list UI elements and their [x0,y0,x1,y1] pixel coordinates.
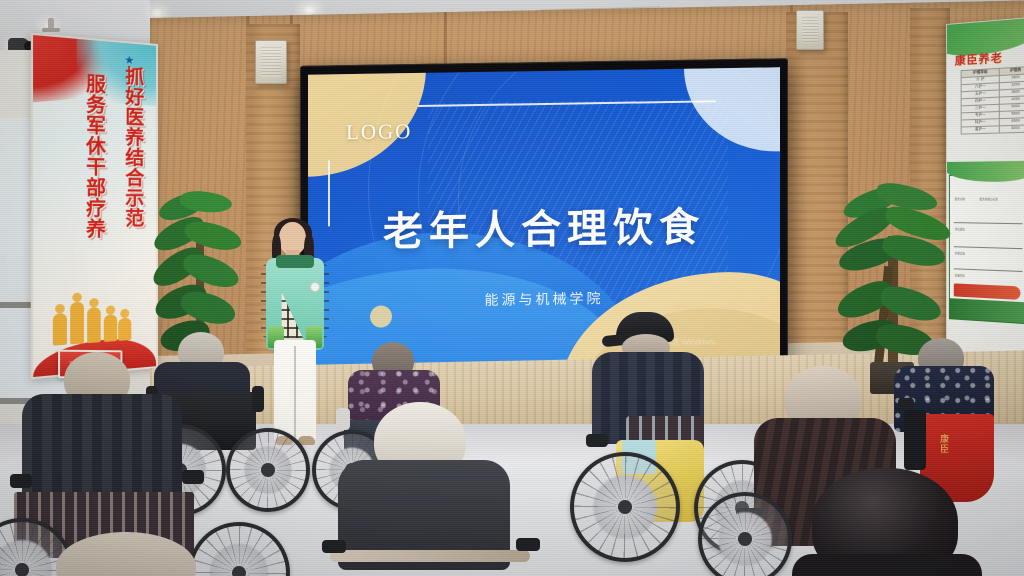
presenter-vest-badge [310,282,320,292]
wheelchair-push-handle [516,538,540,551]
torso [792,554,982,576]
downlight-3 [302,6,317,14]
table-row: 重护一8000 [961,124,1024,133]
wall-speaker-right [796,10,824,50]
slide-logo-text: LOGO [346,119,412,145]
wheelchair-armrest [330,550,530,562]
banner-text-right-column: 抓好医养结合示范 [108,64,142,228]
poster-lower-red-ribbon [954,283,1021,300]
presentation-room-photo: ★ 抓好医养结合示范 服务军休干部疗养 军休干部疗养中心 康臣养老 护理等级 护… [0,0,1024,576]
wheelchair-push-handle [182,470,204,484]
wheelchair-wheel [698,492,792,576]
banner-figures-illustration [44,283,140,353]
slide-title: 老年人合理饮食 [308,193,780,258]
banner-text-left-column: 服务军休干部疗养 [68,72,104,240]
audience-member-center-front [330,402,560,576]
wheelchair-wheel [570,452,680,562]
wheelchair-push-handle [586,434,608,447]
sprinkler-head-icon [48,18,54,30]
head [56,532,196,576]
audience-member-foreground-left [56,532,196,576]
wheelchair-push-handle [322,540,346,553]
downlight-2 [150,9,164,17]
wheelchair-push-handle [10,474,32,488]
presenter-vest-collar [276,255,314,268]
poster-lower-label-2: 服务内容与标准 [980,198,998,202]
wall-banner-left: ★ 抓好医养结合示范 服务军休干部疗养 [31,33,158,380]
audience-member-foreground-right [812,468,972,576]
wall-speaker-left [255,40,287,84]
red-bag-text: 康臣 [938,434,951,454]
poster-price-table: 护理等级 护理费 介 护2800 六护一3200 五护一3600 四护一4200… [961,66,1024,134]
